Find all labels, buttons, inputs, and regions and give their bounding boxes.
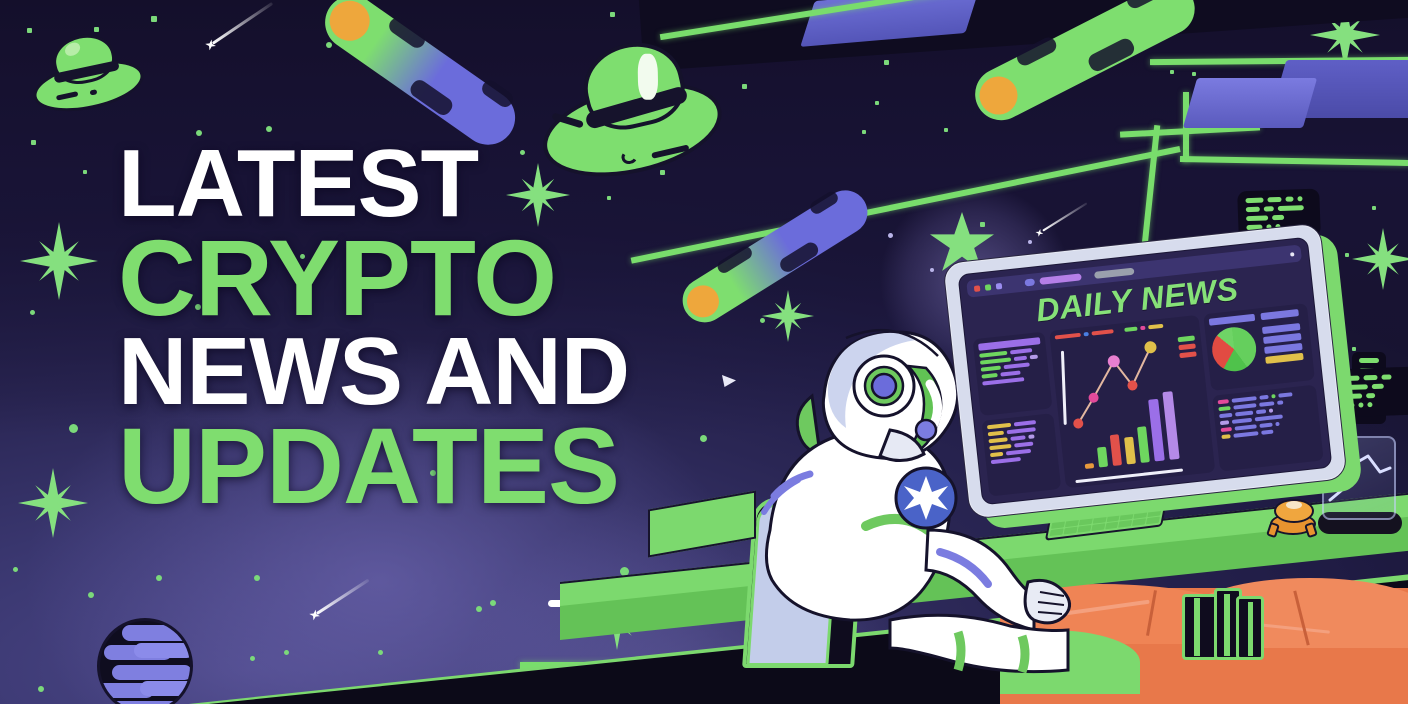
headline-line-3: NEWS AND [118, 328, 678, 416]
dashboard-left-column [973, 332, 1062, 497]
chart-bar [1124, 437, 1136, 465]
list-card [1212, 384, 1324, 471]
monitor-screen[interactable]: DAILY NEWS [958, 237, 1333, 506]
titlebar-tab-1[interactable] [1024, 278, 1035, 286]
chart-bar [1097, 447, 1108, 468]
chart-bar [1137, 426, 1150, 463]
chart-bar [1110, 434, 1122, 466]
battery-canisters [1180, 588, 1266, 662]
titlebar-dot-purple [996, 282, 1003, 289]
cockpit-window [1183, 78, 1317, 128]
headline-line-1: LATEST [118, 140, 678, 228]
pie-legend [1260, 309, 1309, 380]
headline-line-2: CRYPTO [118, 228, 678, 327]
left-card-bottom [981, 413, 1061, 497]
chart-card [1049, 315, 1215, 488]
dashboard-right-column [1203, 303, 1323, 471]
titlebar-dot-green [985, 284, 992, 291]
left-card-top [973, 332, 1053, 416]
chart-bar [1085, 463, 1094, 469]
chart-plot [1056, 328, 1210, 476]
titlebar-tab-3[interactable] [1094, 268, 1135, 279]
titlebar-tab-2[interactable] [1039, 273, 1082, 284]
pie-card [1203, 303, 1315, 390]
headline: LATEST CRYPTO NEWS AND UPDATES [118, 140, 678, 515]
headline-line-4: UPDATES [118, 416, 678, 515]
banner-root: LATEST CRYPTO NEWS AND UPDATES [0, 0, 1408, 704]
titlebar-status-dot [1290, 252, 1294, 256]
pie-chart [1209, 314, 1262, 385]
coin-icon [1266, 495, 1320, 537]
monitor[interactable]: DAILY NEWS [942, 222, 1348, 520]
chart-line-series [1055, 325, 1195, 438]
titlebar-dot-red [974, 285, 981, 292]
